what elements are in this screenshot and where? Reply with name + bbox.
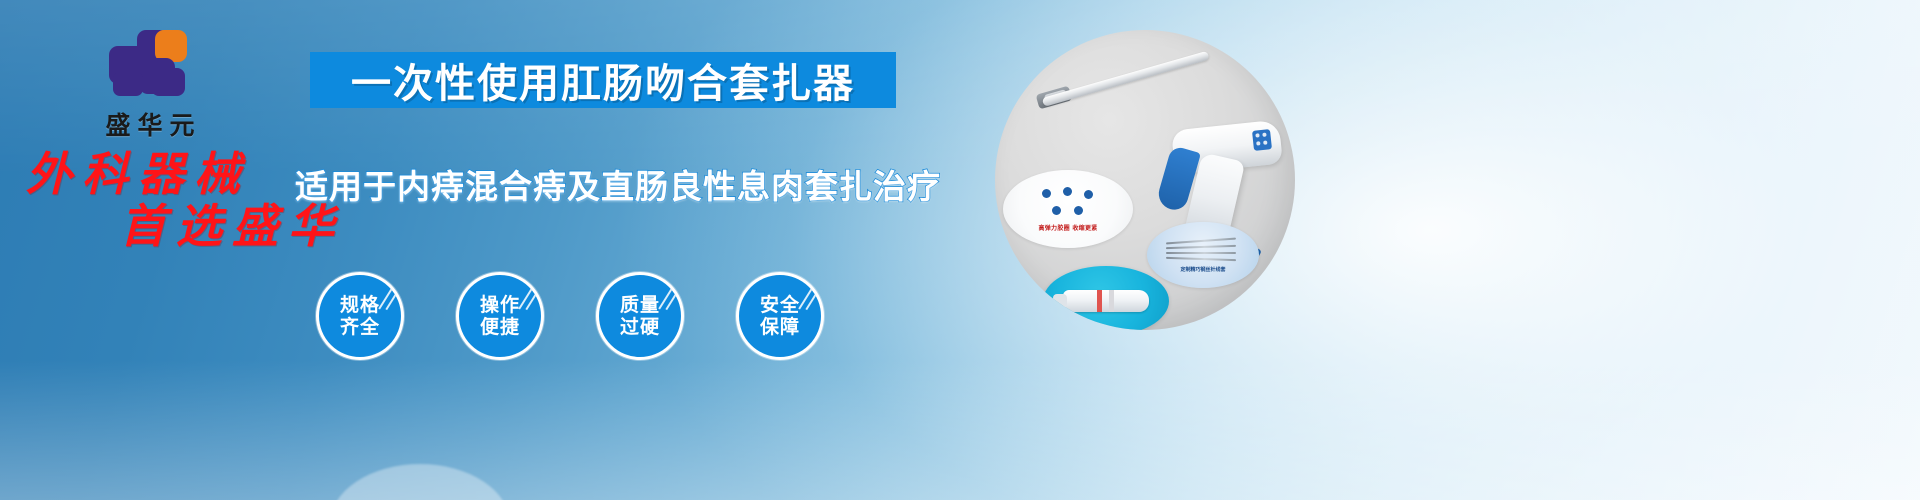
headline-subtitle: 适用于内痔混合痔及直肠良性息肉套扎治疗 bbox=[295, 160, 941, 208]
inset-needle-set: 定制精巧钢丝针线套 bbox=[1147, 222, 1259, 288]
feature-badge-line1: 安全 bbox=[760, 294, 800, 316]
device-barrel bbox=[1042, 51, 1210, 107]
headline-title: 一次性使用肛肠吻合套扎器 bbox=[351, 51, 855, 109]
feature-badge-operation[interactable]: 操作 便捷 bbox=[456, 272, 544, 360]
inset-rings-caption: 高弹力胶圈 收缩更紧 bbox=[1038, 223, 1097, 232]
tube-icon bbox=[1063, 290, 1149, 312]
brand-name: 盛华元 bbox=[60, 106, 240, 142]
feature-badge-line2: 保障 bbox=[760, 316, 800, 338]
feature-badge-line1: 规格 bbox=[340, 294, 380, 316]
logo-square-e bbox=[113, 72, 143, 96]
ring-cluster-icon bbox=[1040, 187, 1096, 221]
feature-badge-quality[interactable]: 质量 过硬 bbox=[596, 272, 684, 360]
feature-badge-line2: 便捷 bbox=[480, 316, 520, 338]
headline-title-bar: 一次性使用肛肠吻合套扎器 bbox=[310, 52, 896, 108]
promo-banner: 盛华元 外科器械 首选盛华 一次性使用肛肠吻合套扎器 适用于内痔混合痔及直肠良性… bbox=[0, 0, 1920, 500]
inset-ligation-rings: 高弹力胶圈 收缩更紧 bbox=[1003, 170, 1133, 248]
tube-band-grey bbox=[1109, 290, 1114, 312]
slogan-line-2: 首选盛华 bbox=[120, 202, 350, 250]
inset-needles-caption: 定制精巧钢丝针线套 bbox=[1180, 266, 1225, 273]
device-button-pad bbox=[1252, 129, 1272, 151]
feature-badge-line2: 齐全 bbox=[340, 316, 380, 338]
inset-disposable-tube bbox=[1043, 266, 1169, 330]
brand-logo[interactable]: 盛华元 bbox=[60, 28, 240, 142]
feature-badge-specs[interactable]: 规格 齐全 bbox=[316, 272, 404, 360]
product-photo: 高弹力胶圈 收缩更紧 定制精巧钢丝针线套 bbox=[995, 30, 1295, 330]
tube-tip bbox=[1053, 294, 1067, 308]
logo-square-f bbox=[151, 68, 185, 96]
tube-band-red bbox=[1097, 290, 1102, 312]
feature-badge-line1: 质量 bbox=[620, 294, 660, 316]
feature-badge-list: 规格 齐全 操作 便捷 质量 过硬 安全 保障 bbox=[316, 272, 876, 392]
bottom-arc-decoration bbox=[330, 464, 510, 500]
feature-badge-line2: 过硬 bbox=[620, 316, 660, 338]
feature-badge-safety[interactable]: 安全 保障 bbox=[736, 272, 824, 360]
feature-badge-line1: 操作 bbox=[480, 294, 520, 316]
needle-bundle-icon bbox=[1166, 238, 1240, 264]
logo-mark-icon bbox=[107, 28, 193, 100]
